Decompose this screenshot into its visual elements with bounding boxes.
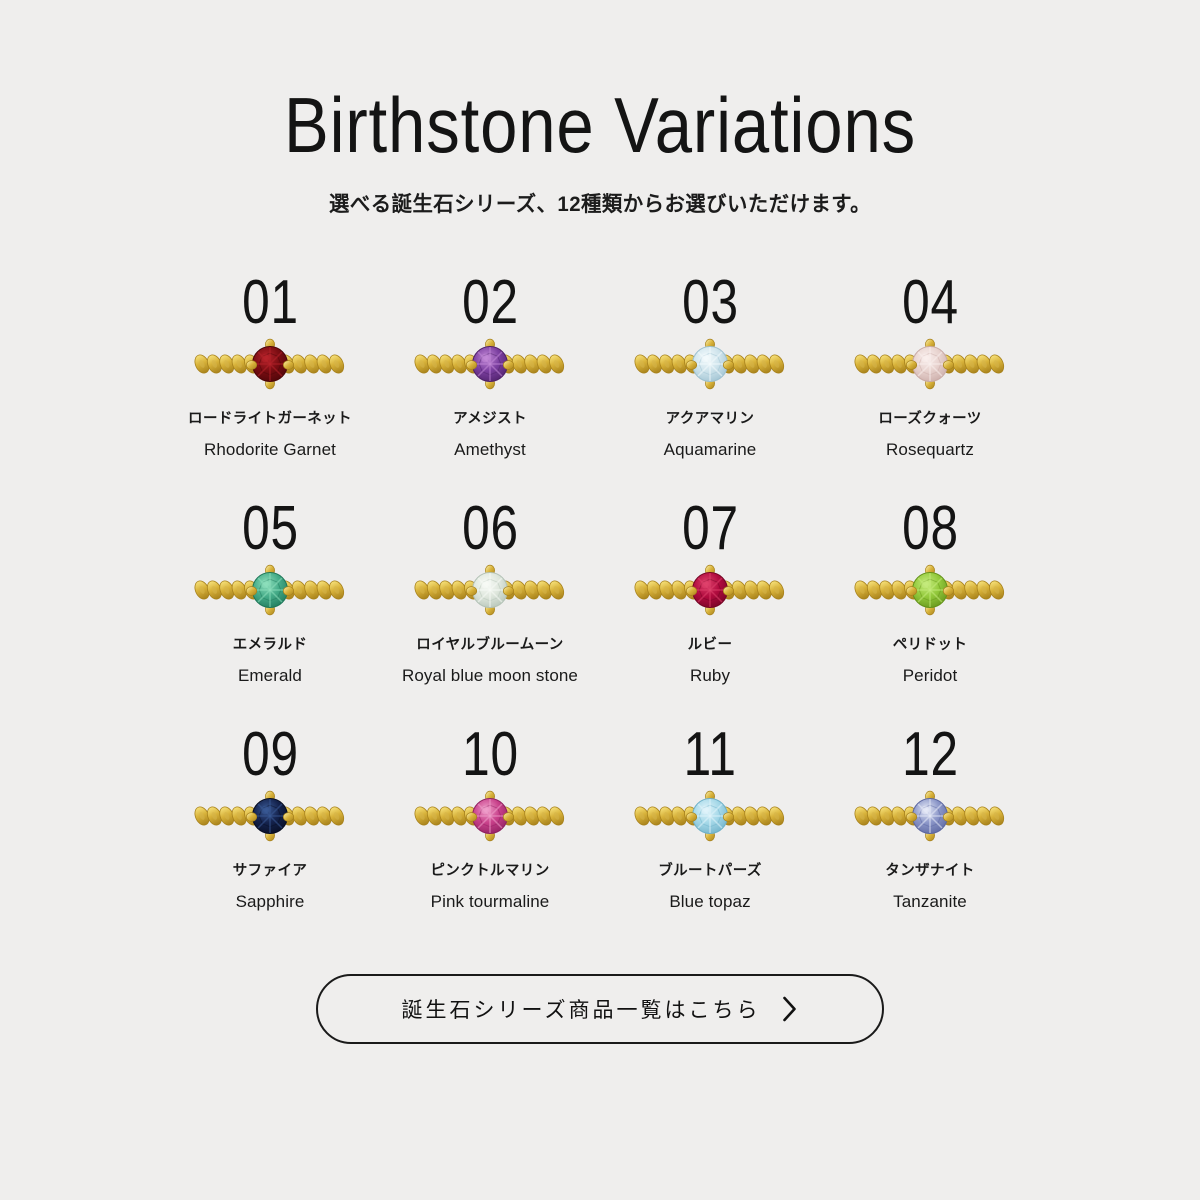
product-list-button-label: 誕生石シリーズ商品一覧はこちら [402,994,761,1024]
ring-illustration [194,786,346,846]
birthstone-card[interactable]: 11 [600,726,820,912]
birthstone-number: 05 [242,500,299,559]
birthstone-label-ja: ロイヤルブルームーン [416,633,563,654]
ring-illustration [854,560,1006,620]
birthstone-label-en: Rhodorite Garnet [204,440,336,460]
birthstone-number: 08 [902,500,959,559]
ring-illustration [414,334,566,394]
gemstone [473,346,508,381]
ring-illustration [634,334,786,394]
page-header: Birthstone Variations 選べる誕生石シリーズ、12種類からお… [0,86,1200,218]
birthstone-card[interactable]: 07 [600,500,820,686]
page-subtitle: 選べる誕生石シリーズ、12種類からお選びいただけます。 [18,188,1182,218]
birthstone-label-ja: エメラルド [233,633,308,654]
birthstone-label-ja: サファイア [233,859,308,880]
birthstone-label-ja: アクアマリン [666,407,755,428]
chevron-right-icon [782,996,798,1022]
gemstone [473,798,508,833]
page-title: Birthstone Variations [84,86,1116,164]
ring-image [850,785,1010,847]
ring-image [630,333,790,395]
birthstone-label-ja: ペリドット [893,633,968,654]
birthstone-number: 09 [242,726,299,785]
ring-image [850,559,1010,621]
cta-area: 誕生石シリーズ商品一覧はこちら [0,974,1200,1044]
birthstone-number: 03 [682,274,739,333]
ring-image [850,333,1010,395]
gemstone [693,572,728,607]
birthstone-card[interactable]: 08 [820,500,1040,686]
birthstone-label-en: Pink tourmaline [431,892,550,912]
birthstone-label-en: Tanzanite [893,892,967,912]
ring-illustration [634,786,786,846]
birthstone-label-ja: ルビー [688,633,733,654]
ring-image [630,559,790,621]
birthstone-number: 12 [902,726,959,785]
birthstone-number: 10 [462,726,519,785]
birthstone-card[interactable]: 01 [160,274,380,460]
birthstone-card[interactable]: 05 [160,500,380,686]
gemstone [913,798,948,833]
birthstone-card[interactable]: 12 [820,726,1040,912]
ring-image [410,559,570,621]
ring-illustration [854,334,1006,394]
ring-illustration [414,786,566,846]
ring-image [410,785,570,847]
gemstone [693,346,728,381]
gemstone [253,798,288,833]
birthstone-label-en: Amethyst [454,440,526,460]
ring-image [410,333,570,395]
birthstone-label-en: Royal blue moon stone [402,666,578,686]
ring-image [190,559,350,621]
ring-image [190,785,350,847]
birthstone-label-ja: ブルートパーズ [658,859,762,880]
birthstone-number: 04 [902,274,959,333]
birthstone-grid: 01 [160,274,1040,912]
birthstone-variations-page: Birthstone Variations 選べる誕生石シリーズ、12種類からお… [0,0,1200,1200]
birthstone-card[interactable]: 02 [380,274,600,460]
gemstone [693,798,728,833]
birthstone-card[interactable]: 10 [380,726,600,912]
birthstone-number: 01 [242,274,299,333]
birthstone-label-ja: ローズクォーツ [878,407,981,428]
birthstone-number: 11 [683,726,736,785]
gemstone [913,346,948,381]
birthstone-label-en: Peridot [903,666,958,686]
birthstone-card[interactable]: 04 [820,274,1040,460]
birthstone-label-ja: ピンクトルマリン [430,859,549,880]
birthstone-number: 07 [682,500,739,559]
birthstone-label-en: Ruby [690,666,730,686]
ring-illustration [194,560,346,620]
birthstone-number: 02 [462,274,519,333]
ring-image [630,785,790,847]
ring-illustration [854,786,1006,846]
product-list-button[interactable]: 誕生石シリーズ商品一覧はこちら [316,974,884,1044]
birthstone-label-en: Blue topaz [669,892,750,912]
gemstone [473,572,508,607]
birthstone-card[interactable]: 09 [160,726,380,912]
birthstone-number: 06 [462,500,519,559]
gemstone [253,346,288,381]
ring-illustration [634,560,786,620]
birthstone-label-en: Sapphire [236,892,305,912]
birthstone-label-en: Rosequartz [886,440,974,460]
birthstone-label-ja: ロードライトガーネット [188,407,352,428]
ring-illustration [414,560,566,620]
ring-illustration [194,334,346,394]
gemstone [913,572,948,607]
gemstone [253,572,288,607]
birthstone-card[interactable]: 03 [600,274,820,460]
birthstone-label-ja: アメジスト [453,407,527,428]
ring-image [190,333,350,395]
birthstone-label-ja: タンザナイト [885,859,974,880]
birthstone-card[interactable]: 06 [380,500,600,686]
birthstone-label-en: Emerald [238,666,302,686]
birthstone-label-en: Aquamarine [664,440,757,460]
